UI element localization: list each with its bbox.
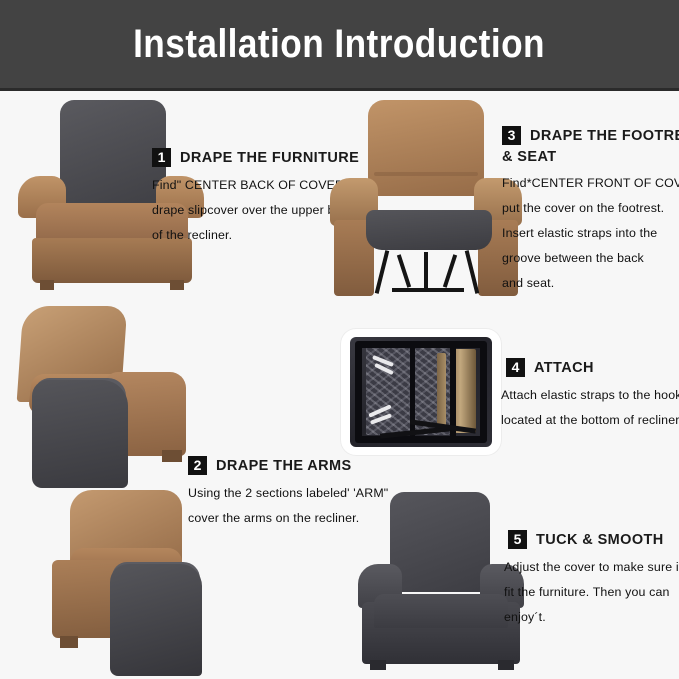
step-5-line-2: fit the furniture. Then you can: [504, 580, 679, 605]
step-5-badge: 5: [508, 530, 527, 549]
step-4-block: 4 ATTACH Attach elastic straps to the ho…: [506, 358, 679, 433]
step-5-title: TUCK & SMOOTH: [536, 532, 664, 548]
step-2-badge: 2: [188, 456, 207, 475]
frame-rail-top: [356, 341, 486, 348]
step-3-block: 3 DRAPE THE FOOTREST & SEAT Find*CENTER …: [502, 126, 679, 296]
step-4-line-1: Attach elastic straps to the hook: [501, 383, 679, 408]
step-3-heading: 3 DRAPE THE FOOTREST: [502, 126, 679, 145]
arm-cover: [110, 564, 202, 676]
infographic-page: Installation Introduction 1 DRAPE THE FU…: [0, 0, 679, 679]
step-3-line-1: Find*CENTER FRONT OF COVER": [502, 171, 679, 196]
illustration-recliner-footrest-draped: [328, 100, 524, 296]
frame-rail-bottom: [356, 436, 486, 443]
foot-right: [498, 660, 514, 670]
foot: [60, 636, 78, 648]
foot-left: [40, 280, 54, 290]
step-1-badge: 1: [152, 148, 171, 167]
illustration-recliner-underside-photo: [340, 328, 502, 456]
step-2-heading: 2 DRAPE THE ARMS: [188, 456, 403, 475]
step-5-line-3: enjoy´t.: [504, 605, 679, 630]
page-title: Installation Introduction: [134, 22, 546, 67]
backrest-seam: [374, 172, 478, 176]
footrest-cover: [366, 210, 492, 250]
step-5-block: 5 TUCK & SMOOTH Adjust the cover to make…: [508, 530, 679, 630]
illustration-recliner-arm-draped-side: [52, 486, 218, 654]
step-3-line-2: put the cover on the footrest.: [502, 196, 679, 221]
page-header: Installation Introduction: [0, 0, 679, 88]
step-5-heading: 5 TUCK & SMOOTH: [508, 530, 679, 549]
backrest: [368, 100, 484, 196]
frame-rail-mid-2: [410, 343, 415, 441]
foot-left: [370, 660, 386, 670]
foot: [162, 450, 182, 462]
step-3-badge: 3: [502, 126, 521, 145]
step-5-line-1: Adjust the cover to make sure it: [504, 555, 679, 580]
photo-frame: [340, 328, 502, 456]
step-4-heading: 4 ATTACH: [506, 358, 679, 377]
foot-right: [170, 280, 184, 290]
step-3-title-line-1: DRAPE THE FOOTREST: [530, 128, 679, 144]
frame-rail-left: [355, 341, 362, 443]
backrest-cover: [390, 492, 490, 592]
step-3-line-3: Insert elastic straps into the: [502, 221, 679, 246]
backrest-cover: [60, 100, 166, 204]
step-4-badge: 4: [506, 358, 525, 377]
recliner-mechanism: [372, 248, 484, 296]
step-2-title: DRAPE THE ARMS: [216, 458, 352, 474]
step-4-line-2: located at the bottom of recliner: [501, 408, 679, 433]
seat-cover: [374, 594, 508, 628]
step-3-line-5: and seat.: [502, 271, 679, 296]
header-divider: [0, 88, 679, 91]
step-4-title: ATTACH: [534, 360, 594, 376]
frame-rail-right: [480, 341, 487, 443]
illustration-recliner-arm-draped-angled: [12, 300, 194, 468]
step-3-title-line-2: & SEAT: [502, 149, 679, 165]
step-3-line-4: groove between the back: [502, 246, 679, 271]
arm-cover: [32, 380, 128, 488]
photo-content: [350, 337, 492, 447]
wood-slat-inner: [437, 353, 446, 429]
